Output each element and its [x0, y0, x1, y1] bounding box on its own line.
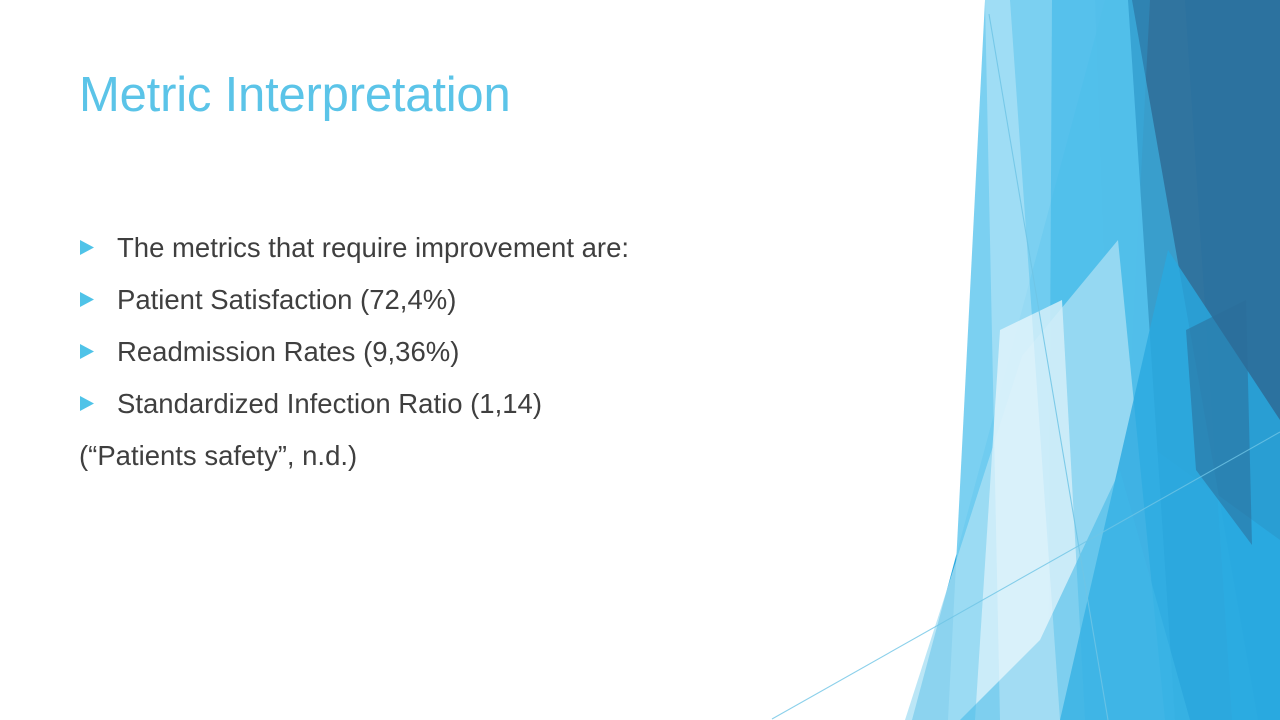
slide-title: Metric Interpretation [79, 68, 899, 123]
bullet-text: Standardized Infection Ratio (1,14) [117, 384, 939, 424]
bullet-text: Patient Satisfaction (72,4%) [117, 280, 939, 320]
bullet-item: Patient Satisfaction (72,4%) [79, 280, 939, 332]
citation-text: (“Patients safety”, n.d.) [79, 436, 357, 476]
bullet-text: The metrics that require improvement are… [117, 228, 939, 268]
bullet-item: The metrics that require improvement are… [79, 228, 939, 280]
slide-canvas: Metric Interpretation The metrics that r… [0, 0, 1280, 720]
triangle-right-icon [79, 239, 99, 256]
slide-body: The metrics that require improvement are… [79, 228, 939, 488]
bullet-item: Readmission Rates (9,36%) [79, 332, 939, 384]
citation-line: (“Patients safety”, n.d.) [79, 436, 939, 488]
triangle-right-icon [79, 291, 99, 308]
triangle-right-icon [79, 395, 99, 412]
triangle-right-icon [79, 343, 99, 360]
bullet-item: Standardized Infection Ratio (1,14) [79, 384, 939, 436]
bullet-text: Readmission Rates (9,36%) [117, 332, 939, 372]
